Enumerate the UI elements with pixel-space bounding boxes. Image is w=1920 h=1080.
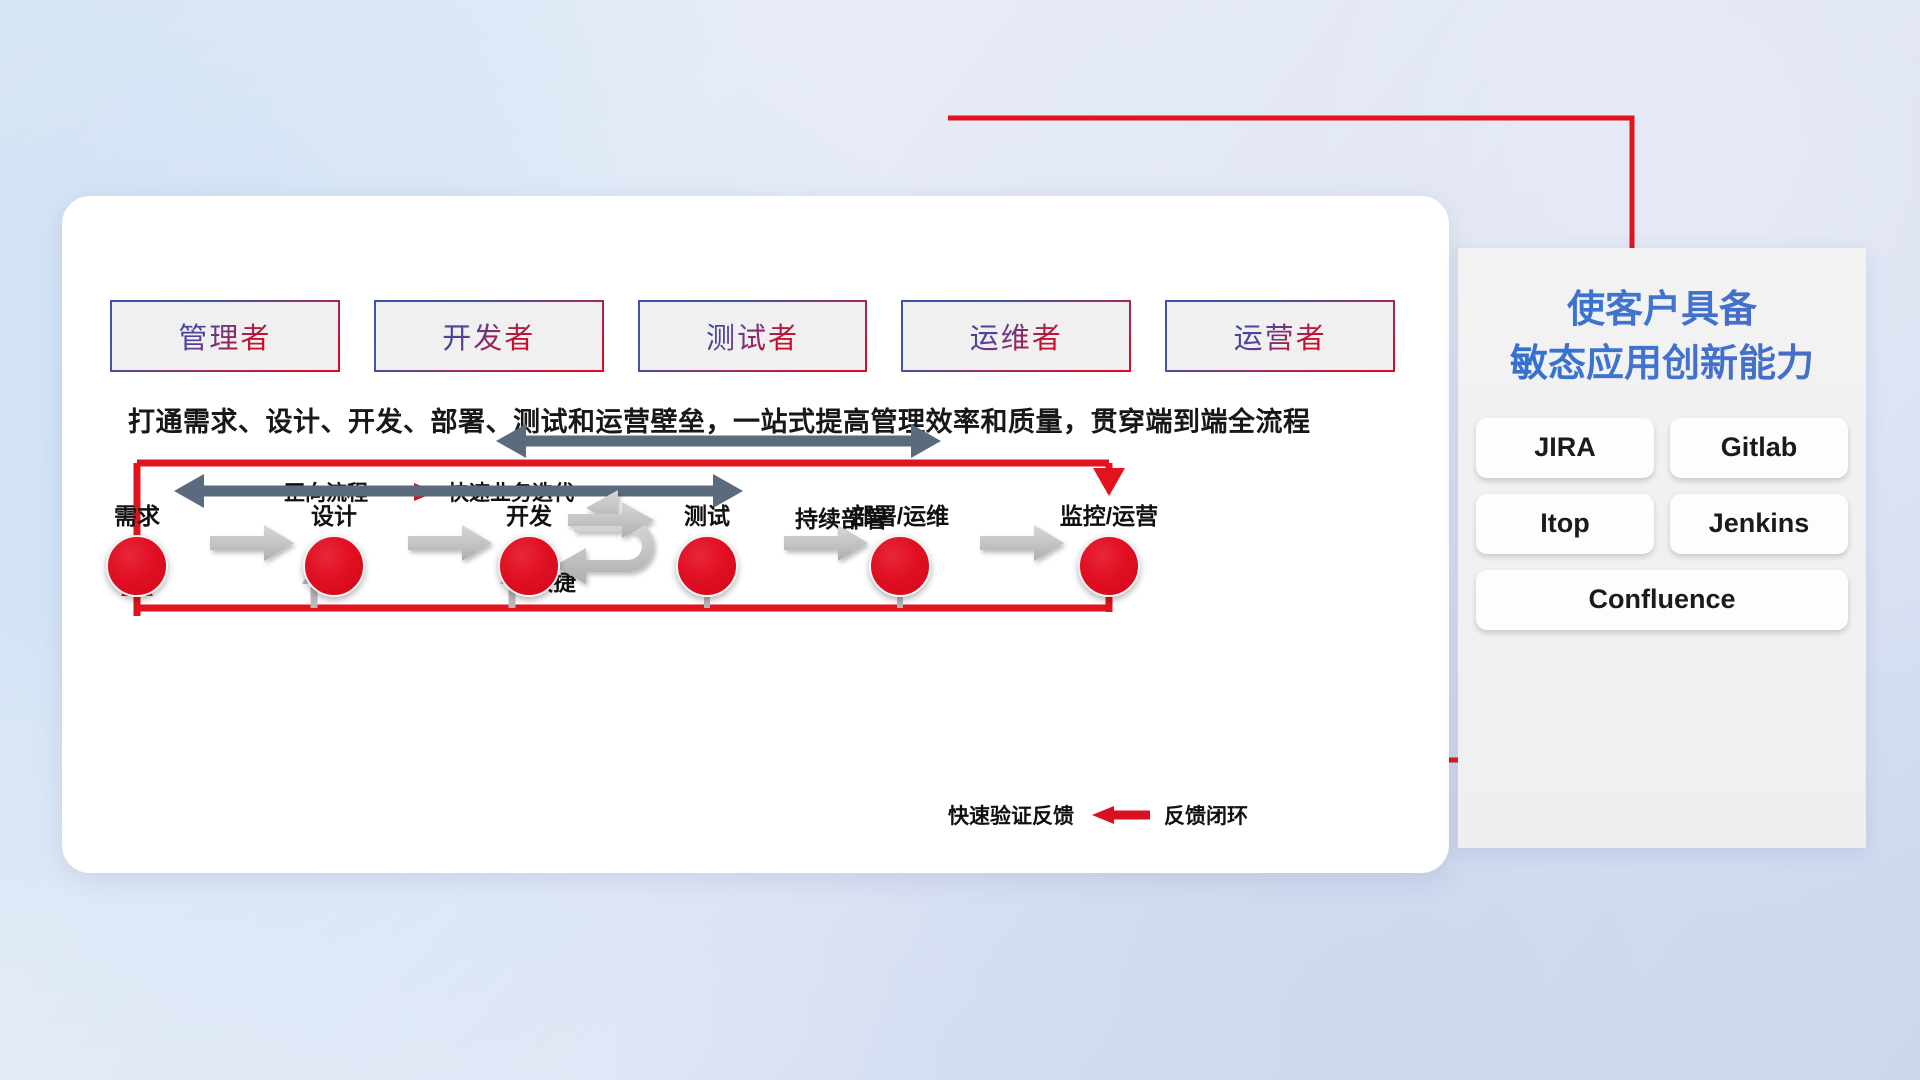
stage-deploy-ops[interactable]: 部署/运维 [825,497,975,597]
stage-nodes: 需求 设计 开发 测试 部署/运维 监控/运营 [62,196,1449,873]
stage-label: 测试 [632,497,782,531]
stage-dot [676,535,738,597]
stage-label: 需求 [62,497,212,531]
stage-requirements[interactable]: 需求 [62,497,212,597]
tool-chip-label: Itop [1540,508,1589,539]
stage-label: 部署/运维 [825,497,975,531]
tool-chip-jenkins[interactable]: Jenkins [1670,494,1848,554]
tool-chip-list: JIRA Gitlab Itop Jenkins Confluence [1476,418,1848,630]
stage-testing[interactable]: 测试 [632,497,782,597]
stage-label: 开发 [454,497,604,531]
tool-chip-confluence[interactable]: Confluence [1476,570,1848,630]
tools-panel: 使客户具备 敏态应用创新能力 JIRA Gitlab Itop Jenkins … [1458,248,1866,848]
stage-label: 设计 [259,497,409,531]
stage-dot [498,535,560,597]
stage-monitor-operations[interactable]: 监控/运营 [1034,497,1184,597]
tool-chip-label: Confluence [1588,584,1735,615]
stage-dot [303,535,365,597]
stage-dot [1078,535,1140,597]
stage-label: 监控/运营 [1034,497,1184,531]
stage-development[interactable]: 开发 [454,497,604,597]
tool-chip-label: JIRA [1534,432,1596,463]
tools-panel-title-line2: 敏态应用创新能力 [1458,338,1866,392]
tools-panel-title: 使客户具备 敏态应用创新能力 [1458,284,1866,392]
tool-chip-label: Jenkins [1709,508,1810,539]
tool-chip-label: Gitlab [1721,432,1798,463]
tool-chip-gitlab[interactable]: Gitlab [1670,418,1848,478]
stage-design[interactable]: 设计 [259,497,409,597]
stage-dot [869,535,931,597]
tool-chip-itop[interactable]: Itop [1476,494,1654,554]
tools-panel-title-line1: 使客户具备 [1458,284,1866,338]
stage-dot [106,535,168,597]
tool-chip-jira[interactable]: JIRA [1476,418,1654,478]
